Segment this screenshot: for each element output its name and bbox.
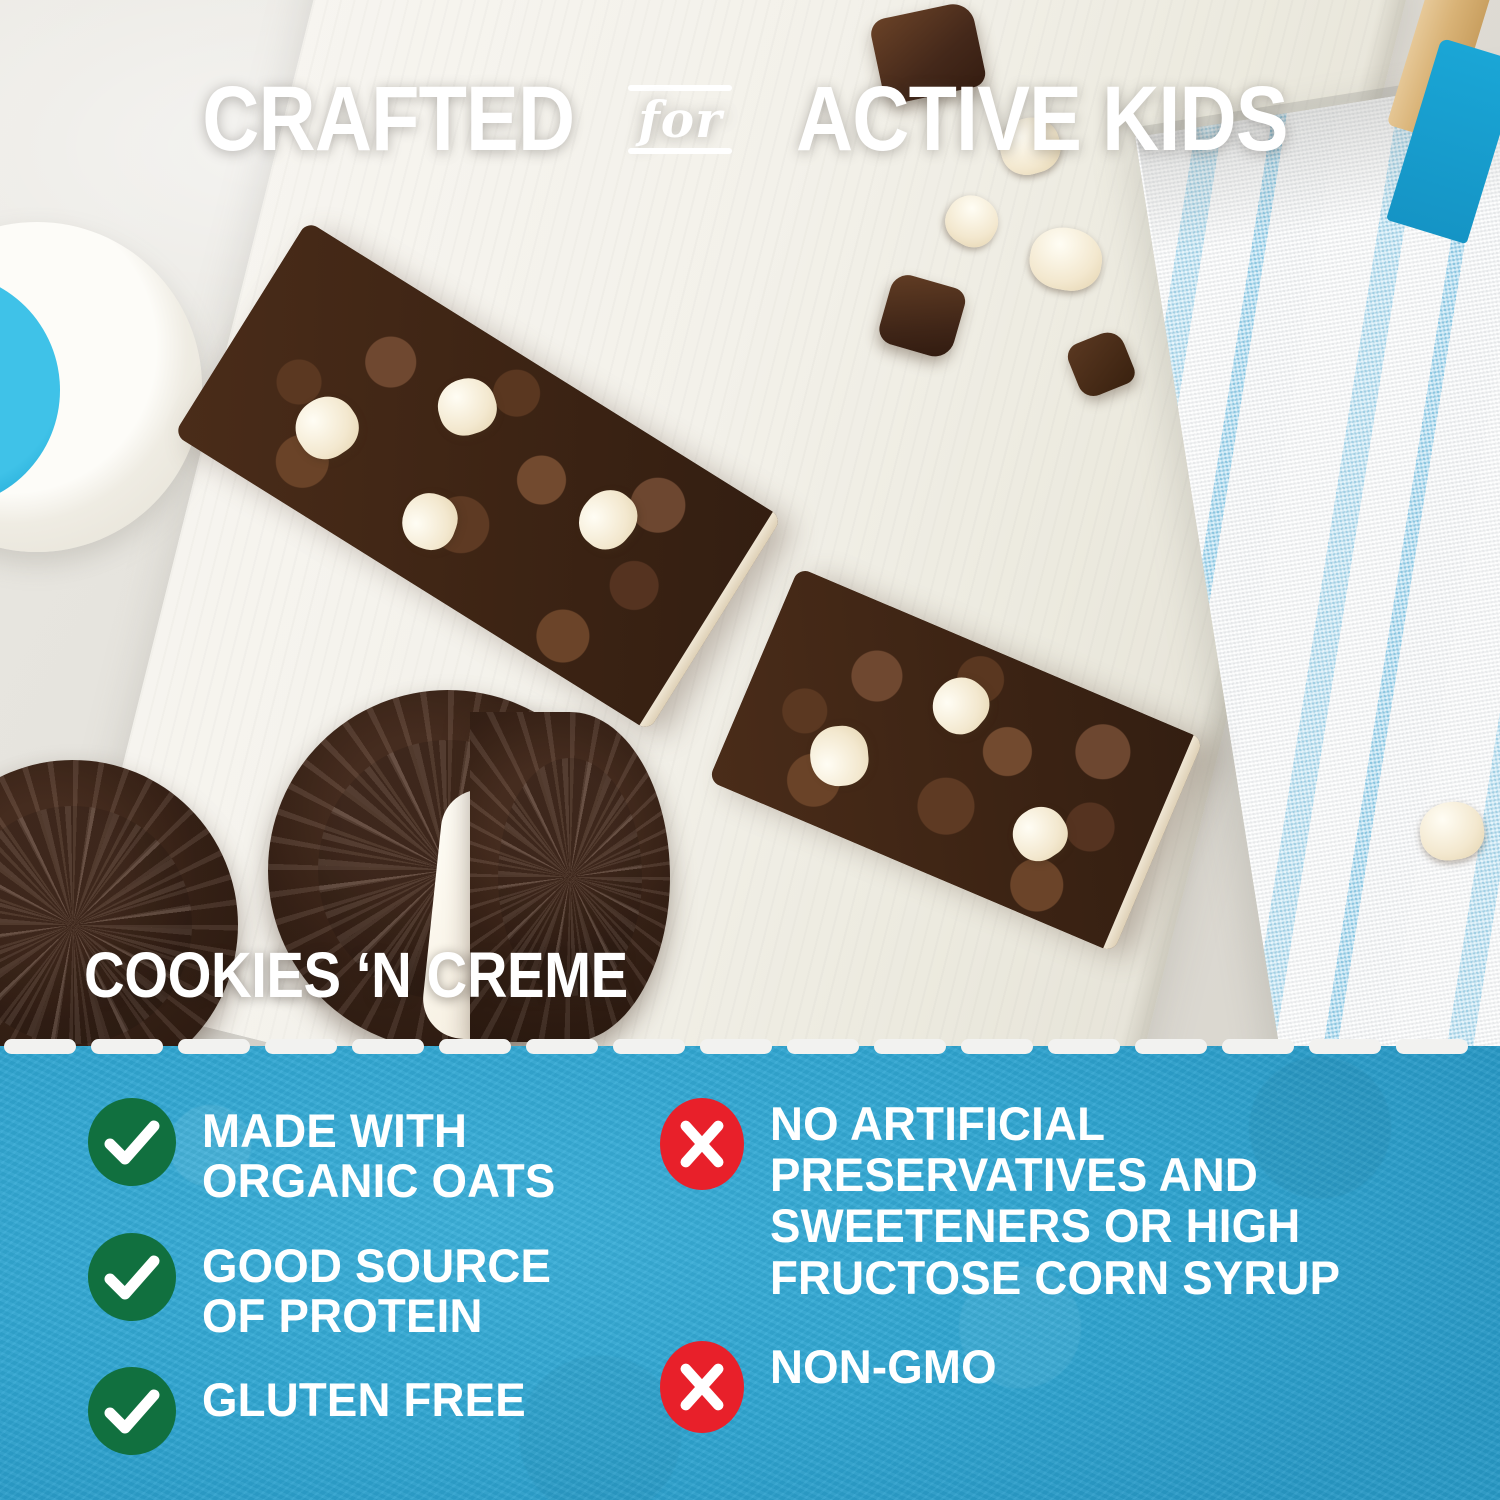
divider-dash [265,1039,337,1054]
divider-dash [1222,1039,1294,1054]
divider-dash [439,1039,511,1054]
benefits-column-right: NO ARTIFICIAL PRESERVATIVES AND SWEETENE… [660,1046,1500,1500]
divider-dash [4,1039,76,1054]
benefit-label: GOOD SOURCE OF PROTEIN [202,1233,551,1342]
divider-dash [700,1039,772,1054]
divider-dash [1135,1039,1207,1054]
benefit-label: GLUTEN FREE [202,1367,526,1425]
benefits-columns: MADE WITH ORGANIC OATS GOOD SOURCE OF PR… [0,1046,1500,1500]
divider-dash [352,1039,424,1054]
benefits-panel: MADE WITH ORGANIC OATS GOOD SOURCE OF PR… [0,1046,1500,1500]
headline-connector-group: for [626,85,734,154]
divider-dash [91,1039,163,1054]
divider-dash [1309,1039,1381,1054]
headline-connector: for [638,94,722,145]
benefit-item: NO ARTIFICIAL PRESERVATIVES AND SWEETENE… [660,1094,1500,1303]
benefit-label: MADE WITH ORGANIC OATS [202,1098,556,1207]
benefit-item: GOOD SOURCE OF PROTEIN [88,1233,660,1342]
benefit-item: MADE WITH ORGANIC OATS [88,1098,660,1207]
benefit-item: GLUTEN FREE [88,1367,660,1455]
check-icon [88,1233,176,1321]
check-icon [88,1098,176,1186]
benefits-column-left: MADE WITH ORGANIC OATS GOOD SOURCE OF PR… [0,1046,660,1500]
divider-dash [961,1039,1033,1054]
dashed-divider [0,1038,1500,1054]
headline-part-2: ACTIVE KIDS [796,74,1288,164]
divider-dash [874,1039,946,1054]
divider-dash [1396,1039,1468,1054]
benefit-item: NON-GMO [660,1337,1500,1433]
benefit-label: NON-GMO [770,1337,997,1392]
flavor-name: COOKIES ‘N CREME [84,938,628,1012]
ad-creative: CRAFTED for ACTIVE KIDS COOKIES ‘N CREME [0,0,1500,1500]
divider-dash [526,1039,598,1054]
divider-dash [178,1039,250,1054]
divider-dash [1048,1039,1120,1054]
divider-dash [787,1039,859,1054]
check-icon [88,1367,176,1455]
x-icon [660,1341,744,1433]
benefit-label: NO ARTIFICIAL PRESERVATIVES AND SWEETENE… [770,1094,1340,1303]
headline: CRAFTED for ACTIVE KIDS [0,74,1500,164]
product-photo: CRAFTED for ACTIVE KIDS COOKIES ‘N CREME [0,0,1500,1046]
divider-dash [613,1039,685,1054]
rule-bottom [628,148,732,154]
x-icon [660,1098,744,1190]
headline-part-1: CRAFTED [202,74,574,164]
